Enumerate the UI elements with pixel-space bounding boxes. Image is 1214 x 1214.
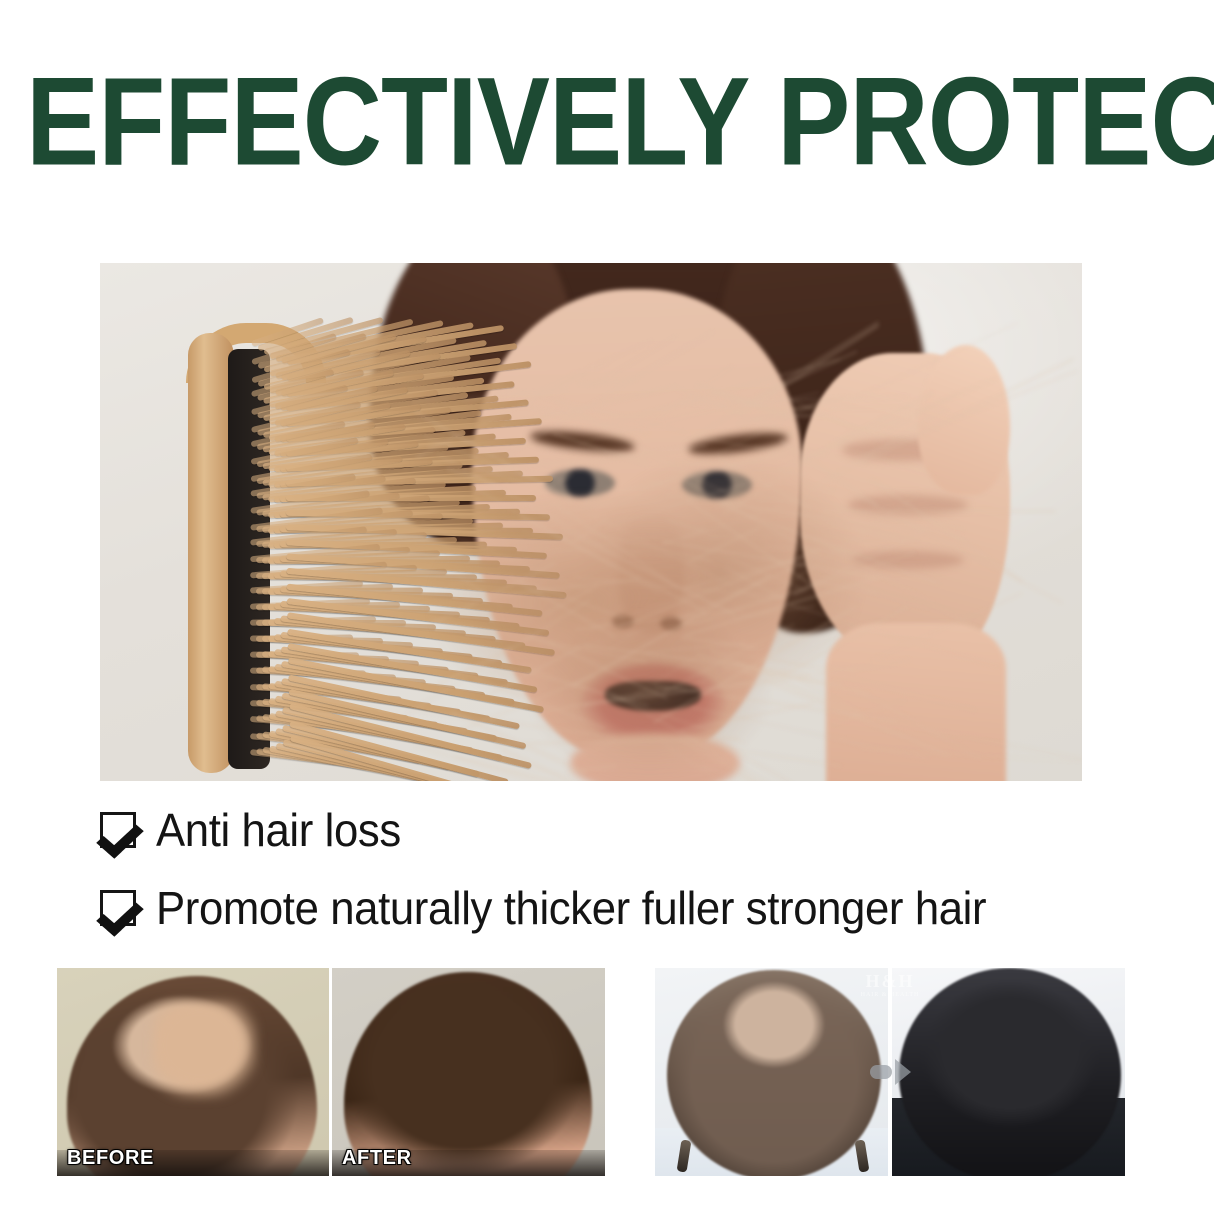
hair-strand [406, 600, 591, 715]
hero-image [100, 263, 1082, 781]
before-label: BEFORE [67, 1147, 154, 1170]
photo-before-side: BEFORE [57, 968, 329, 1176]
head-restored [344, 972, 592, 1176]
hair-strand [462, 443, 517, 472]
hair-strand [521, 517, 705, 612]
watermark-subtext: HAIR & HEALTH [861, 992, 920, 999]
list-item: Promote naturally thicker fuller stronge… [100, 880, 1080, 936]
arrow-shaft [870, 1065, 892, 1079]
hair-strand [431, 619, 647, 662]
page-title: EFFECTIVELY PROTECT SCALP [26, 66, 1214, 179]
after-label: AFTER [342, 1147, 412, 1170]
hair-strand [412, 709, 615, 738]
slider-arrow-right-icon[interactable] [860, 1059, 920, 1085]
photo-before-crown [655, 968, 889, 1176]
hair-strand [725, 748, 841, 767]
list-item-label: Promote naturally thicker fuller stronge… [156, 881, 986, 935]
hair-strand [805, 522, 902, 536]
eyeglasses-icon [673, 1138, 873, 1172]
headline-banner: EFFECTIVELY PROTECT SCALP [26, 62, 1198, 182]
before-after-gallery: BEFORE AFTER H&H HAIR & HEALTH [0, 968, 1214, 1178]
photo-after-side: AFTER [332, 968, 605, 1176]
arrow-head [895, 1059, 911, 1085]
hair-strand [412, 396, 457, 403]
hair-strand [490, 662, 648, 706]
checked-checkbox-icon [100, 890, 136, 926]
gallery-pair-left: BEFORE AFTER [57, 968, 605, 1176]
hair-strand [552, 502, 678, 588]
list-item: Anti hair loss [100, 802, 1080, 858]
hair-strand [496, 738, 739, 745]
watermark-logo: H&H HAIR & HEALTH [861, 972, 920, 998]
hair-strand [702, 437, 777, 453]
hair-strand [414, 411, 572, 502]
hair-strand [519, 665, 748, 744]
hair-strand [835, 445, 932, 475]
list-item-label: Anti hair loss [156, 803, 401, 857]
watermark-text: H&H [866, 971, 915, 991]
hair-strand [707, 735, 911, 781]
photo-after-crown [891, 968, 1125, 1176]
checked-checkbox-icon [100, 812, 136, 848]
hair-strand [645, 643, 745, 653]
fallen-hair-tangle [400, 383, 920, 781]
gallery-pair-right: H&H HAIR & HEALTH [655, 968, 1125, 1176]
hair-strand [420, 523, 592, 592]
benefits-list: Anti hair loss Promote naturally thicker… [100, 802, 1080, 958]
hair-strand [856, 585, 929, 609]
head-full-crown [899, 968, 1121, 1176]
bald-patch [153, 1002, 257, 1098]
